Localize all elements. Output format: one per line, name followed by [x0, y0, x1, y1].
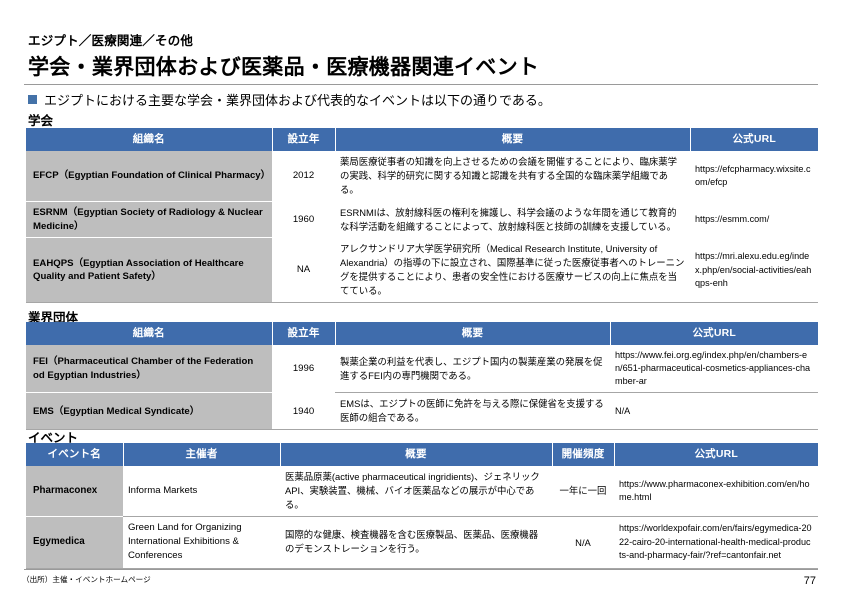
cell-summary: EMSは、エジプトの医師に免許を与える際に保健省を支援する医師の組合である。 — [335, 393, 610, 430]
square-bullet-icon — [28, 95, 37, 104]
cell-summary: 製薬企業の利益を代表し、エジプト国内の製薬産業の発展を促進するFEI内の専門機関… — [335, 345, 610, 393]
column-header-official-url: 公式URL — [614, 443, 818, 466]
column-header-summary: 概要 — [335, 128, 690, 151]
cell-summary: 薬局医療従事者の知識を向上させるための会議を開催することにより、臨床薬学の実践、… — [335, 151, 690, 201]
column-header-org-name: 組織名 — [26, 128, 272, 151]
cell-org-name: EAHQPS（Egyptian Association of Healthcar… — [26, 238, 272, 303]
table-header-row: 組織名 設立年 概要 公式URL — [26, 322, 818, 345]
table-gyokai: 組織名 設立年 概要 公式URL FEI（Pharmaceutical Cham… — [26, 322, 818, 430]
table-row: ESRNM（Egyptian Society of Radiology & Nu… — [26, 201, 818, 238]
cell-organizer: Informa Markets — [123, 466, 280, 516]
column-header-summary: 概要 — [335, 322, 610, 345]
cell-founded-year: 2012 — [272, 151, 335, 201]
cell-summary: アレクサンドリア大学医学研究所（Medical Research Institu… — [335, 238, 690, 303]
cell-official-url[interactable]: https://esmm.com/ — [690, 201, 818, 238]
cell-summary: ESRNMIは、放射線科医の権利を擁護し、科学会議のような年間を通じて教育的な科… — [335, 201, 690, 238]
table-row: EMS（Egyptian Medical Syndicate） 1940 EMS… — [26, 393, 818, 430]
table-row: FEI（Pharmaceutical Chamber of the Federa… — [26, 345, 818, 393]
cell-org-name: FEI（Pharmaceutical Chamber of the Federa… — [26, 345, 272, 393]
cell-event-name: Pharmaconex — [26, 466, 123, 516]
column-header-frequency: 開催頻度 — [552, 443, 614, 466]
column-header-org-name: 組織名 — [26, 322, 272, 345]
table-gakkai: 組織名 設立年 概要 公式URL EFCP（Egyptian Foundatio… — [26, 128, 818, 303]
table-row: EFCP（Egyptian Foundation of Clinical Pha… — [26, 151, 818, 201]
column-header-founded-year: 設立年 — [272, 322, 335, 345]
table-row: EAHQPS（Egyptian Association of Healthcar… — [26, 238, 818, 303]
cell-founded-year: 1996 — [272, 345, 335, 393]
cell-summary: 医薬品原薬(active pharmaceutical ingridients)… — [280, 466, 552, 516]
column-header-official-url: 公式URL — [690, 128, 818, 151]
column-header-event-name: イベント名 — [26, 443, 123, 466]
lead-text: エジプトにおける主要な学会・業界団体および代表的なイベントは以下の通りである。 — [44, 90, 551, 109]
cell-frequency: N/A — [552, 516, 614, 568]
cell-frequency: 一年に一回 — [552, 466, 614, 516]
page-title: 学会・業界団体および医薬品・医療機器関連イベント — [28, 51, 539, 81]
lead-statement: エジプトにおける主要な学会・業界団体および代表的なイベントは以下の通りである。 — [28, 90, 551, 109]
column-header-summary: 概要 — [280, 443, 552, 466]
cell-organizer: Green Land for Organizing International … — [123, 516, 280, 568]
cell-founded-year: NA — [272, 238, 335, 303]
breadcrumb-kicker: エジプト／医療関連／その他 — [28, 30, 193, 49]
cell-org-name: EFCP（Egyptian Foundation of Clinical Pha… — [26, 151, 272, 201]
cell-official-url[interactable]: https://mri.alexu.edu.eg/index.php/en/so… — [690, 238, 818, 303]
cell-founded-year: 1960 — [272, 201, 335, 238]
cell-official-url[interactable]: https://www.pharmaconex-exhibition.com/e… — [614, 466, 818, 516]
column-header-official-url: 公式URL — [610, 322, 818, 345]
cell-org-name: EMS（Egyptian Medical Syndicate） — [26, 393, 272, 430]
cell-org-name: ESRNM（Egyptian Society of Radiology & Nu… — [26, 201, 272, 238]
cell-official-url[interactable]: https://worldexpofair.com/en/fairs/egyme… — [614, 516, 818, 568]
cell-official-url[interactable]: https://efcpharmacy.wixsite.com/efcp — [690, 151, 818, 201]
table-row: Pharmaconex Informa Markets 医薬品原薬(active… — [26, 466, 818, 516]
footer-divider — [24, 569, 818, 570]
column-header-organizer: 主催者 — [123, 443, 280, 466]
source-note: （出所）主催・イベントホームページ — [22, 574, 151, 585]
title-divider — [24, 84, 818, 85]
slide-root: エジプト／医療関連／その他 学会・業界団体および医薬品・医療機器関連イベント エ… — [0, 0, 842, 595]
cell-event-name: Egymedica — [26, 516, 123, 568]
cell-founded-year: 1940 — [272, 393, 335, 430]
cell-summary: 国際的な健康、検査機器を含む医療製品、医薬品、医療機器のデモンストレーションを行… — [280, 516, 552, 568]
column-header-founded-year: 設立年 — [272, 128, 335, 151]
cell-official-url: N/A — [610, 393, 818, 430]
table-header-row: 組織名 設立年 概要 公式URL — [26, 128, 818, 151]
table-header-row: イベント名 主催者 概要 開催頻度 公式URL — [26, 443, 818, 466]
cell-official-url[interactable]: https://www.fei.org.eg/index.php/en/cham… — [610, 345, 818, 393]
page-number: 77 — [804, 575, 816, 587]
section-label-gakkai: 学会 — [28, 110, 53, 129]
table-event: イベント名 主催者 概要 開催頻度 公式URL Pharmaconex Info… — [26, 443, 818, 569]
table-row: Egymedica Green Land for Organizing Inte… — [26, 516, 818, 568]
